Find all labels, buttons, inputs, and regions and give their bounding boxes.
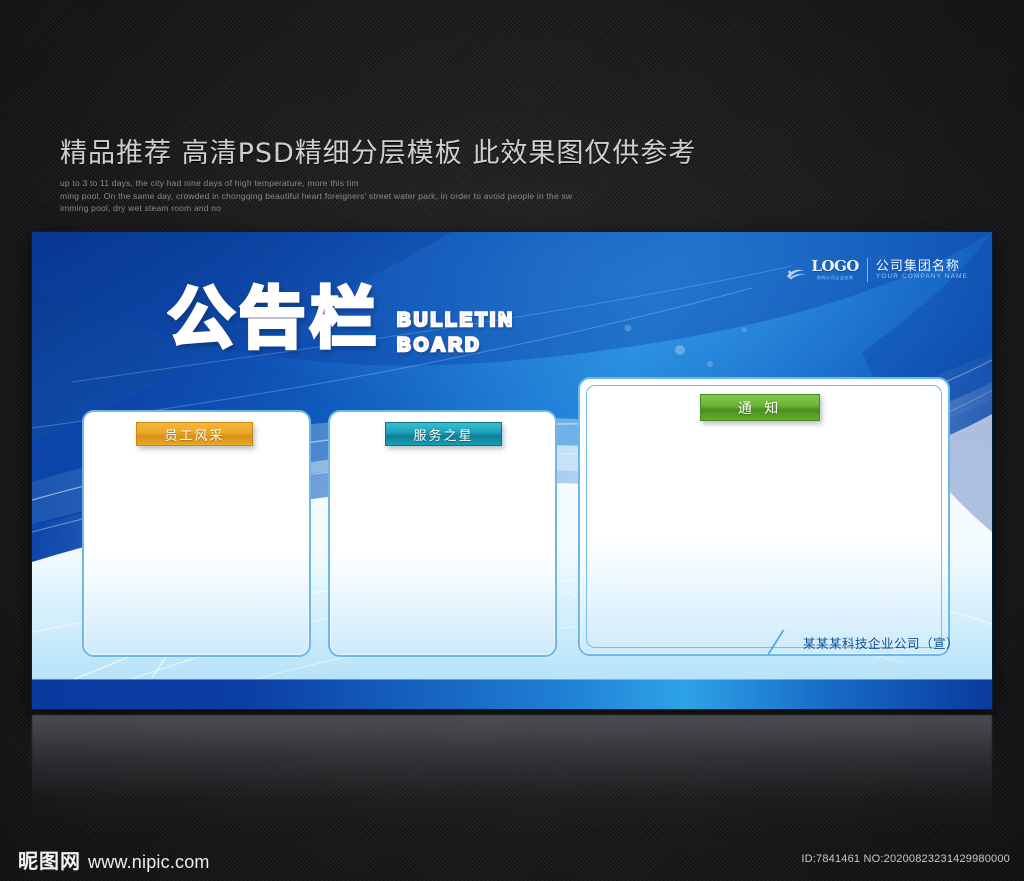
headline-english-line-2: BOARD <box>397 333 515 358</box>
logo-tagline: 你的公司企业名称 <box>811 276 859 280</box>
headline-chinese: 公告栏 <box>168 286 381 352</box>
asset-id-text: ID:7841461 NO:20200823231429980000 <box>801 853 1010 865</box>
board-reflection <box>32 715 992 835</box>
promo-title: 精品推荐 高清PSD精细分层模板 此效果图仅供参考 <box>60 131 960 170</box>
logo-company-cn: 公司集团名称 <box>876 259 968 273</box>
company-note: 某某某科技企业公司（宣） <box>775 630 959 654</box>
swoosh-icon <box>786 267 808 281</box>
promo-block: 精品推荐 高清PSD精细分层模板 此效果图仅供参考 up to 3 to 11 … <box>60 131 960 215</box>
tag-notice[interactable]: 通 知 <box>700 394 820 421</box>
logo-wordmark: LOGO <box>811 259 859 274</box>
promo-subtext-line-2: ming pool. On the same day, crowded in c… <box>60 190 960 203</box>
site-branding: 昵图网 www.nipic.com <box>18 845 210 874</box>
headline-english: BULLETIN BOARD <box>397 308 515 358</box>
company-logo: LOGO 你的公司企业名称 公司集团名称 YOUR COMPANY NAME <box>786 258 968 282</box>
tag-service-star[interactable]: 服务之星 <box>385 422 502 446</box>
company-note-text: 某某某科技企业公司（宣） <box>803 633 959 652</box>
logo-company-en: YOUR COMPANY NAME <box>876 274 968 281</box>
promo-subtext: up to 3 to 11 days, the city had nine da… <box>60 177 960 215</box>
promo-subtext-line-3: imming pool, dry wet steam room and no <box>60 202 960 215</box>
panel-notice-inner-border <box>586 385 942 648</box>
tag-staff-showcase[interactable]: 员工风采 <box>136 422 253 446</box>
board-bottom-bar <box>32 679 992 709</box>
panel-staff[interactable] <box>82 410 311 657</box>
logo-mark: LOGO 你的公司企业名称 <box>786 259 859 280</box>
panel-service[interactable] <box>328 410 557 657</box>
logo-company-names: 公司集团名称 YOUR COMPANY NAME <box>876 259 968 281</box>
board-headline: 公告栏 BULLETIN BOARD <box>168 286 515 358</box>
headline-english-line-1: BULLETIN <box>397 308 515 333</box>
site-brand-cn: 昵图网 <box>18 845 81 874</box>
logo-divider <box>867 258 868 282</box>
site-brand-url: www.nipic.com <box>88 852 210 873</box>
promo-subtext-line-1: up to 3 to 11 days, the city had nine da… <box>60 177 960 190</box>
